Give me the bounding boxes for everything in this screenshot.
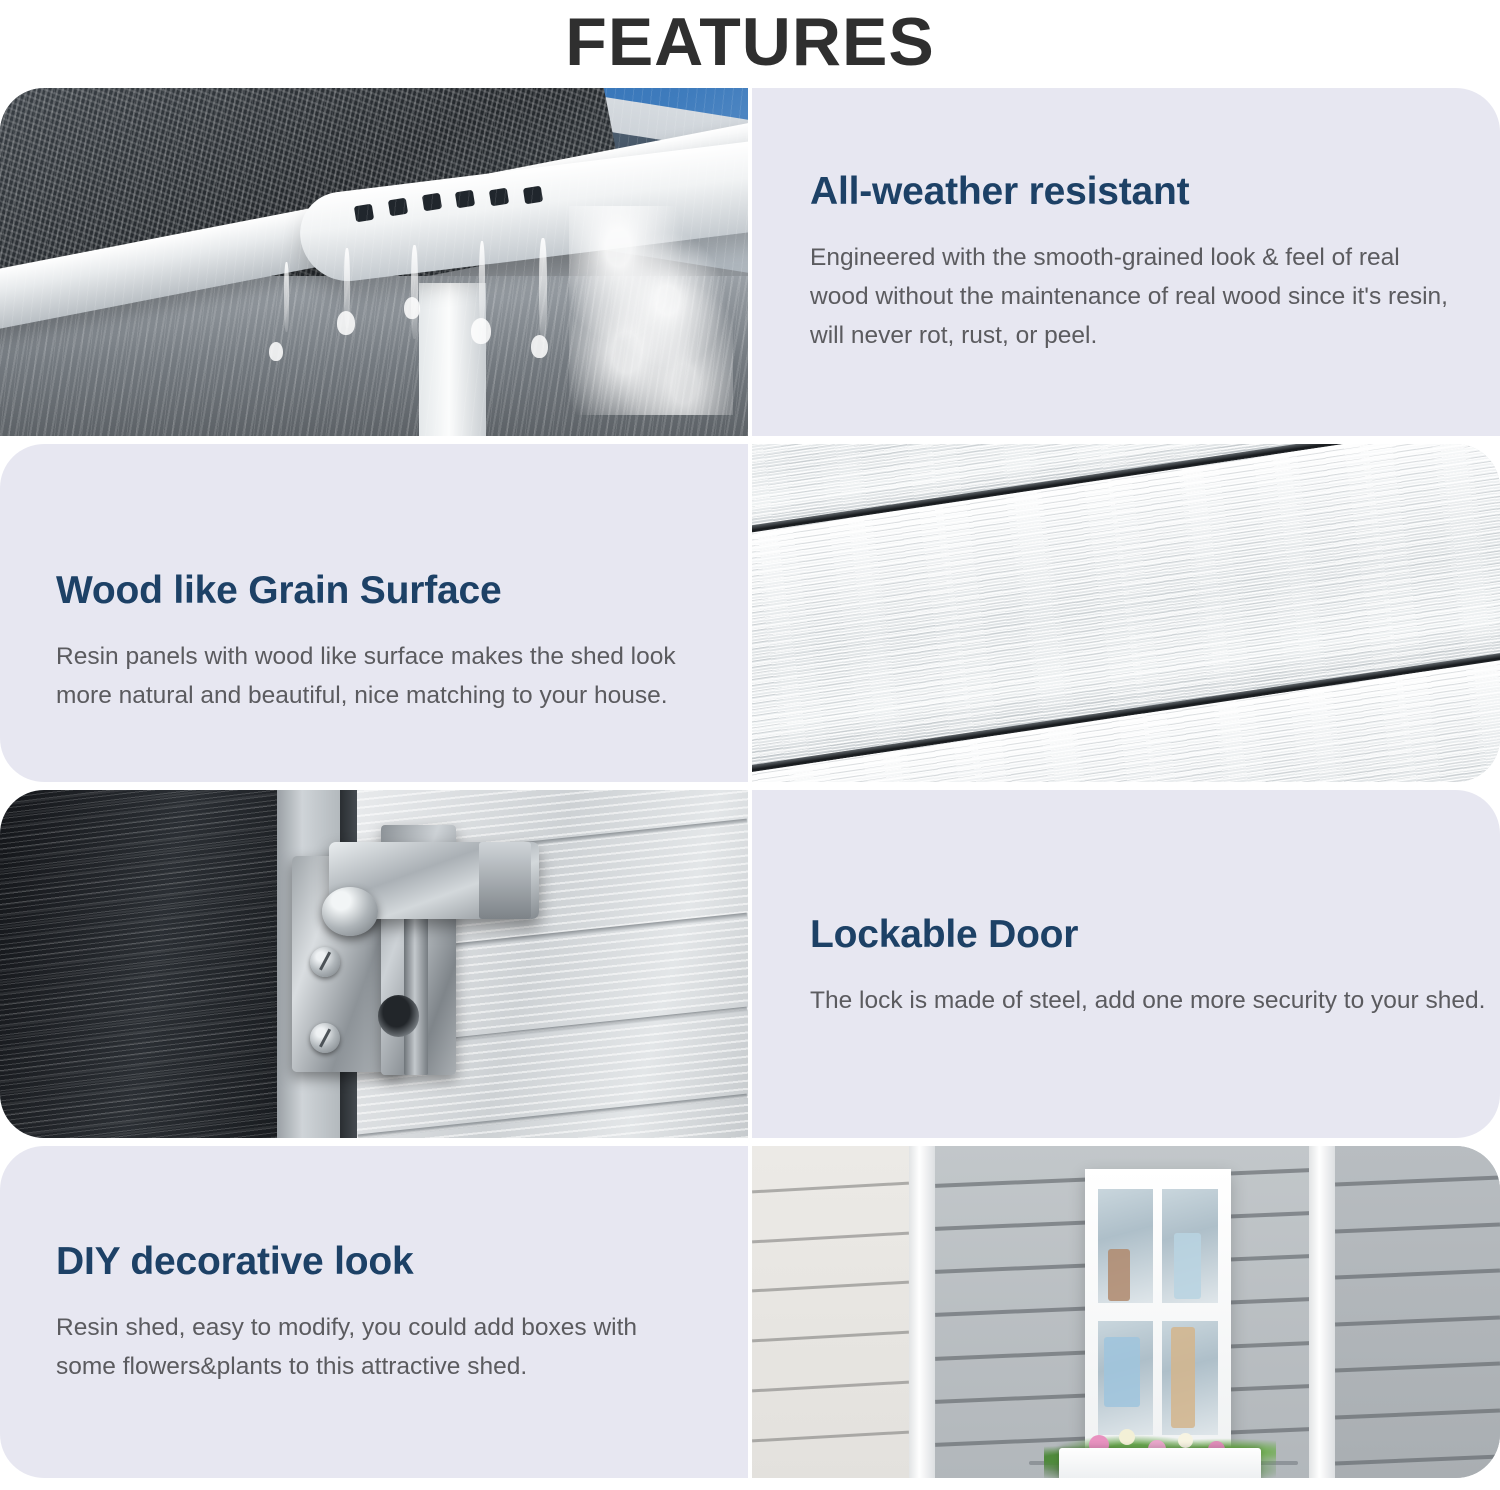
rain-mist-overlay: [0, 88, 748, 436]
feature-card-lockable-door: Lockable Door The lock is made of steel,…: [0, 790, 1500, 1138]
door-latch-photo: [0, 790, 748, 1138]
perpendicular-wall: [752, 1146, 909, 1478]
feature-image-all-weather-resistant: [0, 88, 748, 436]
feature-heading: All-weather resistant: [810, 170, 1189, 214]
rain-on-gutter-photo: [0, 88, 748, 436]
feature-card-all-weather-resistant: All-weather resistant Engineered with th…: [0, 88, 1500, 436]
white-flower-box: [1059, 1448, 1261, 1478]
feature-body: Resin shed, easy to modify, you could ad…: [56, 1308, 646, 1386]
feature-image-wood-like-grain-surface: [752, 444, 1500, 782]
feature-heading: Lockable Door: [810, 913, 1078, 957]
shed-window: [1085, 1169, 1231, 1455]
feature-text-all-weather-resistant: All-weather resistant Engineered with th…: [752, 88, 1500, 436]
feature-card-diy-decorative-look: DIY decorative look Resin shed, easy to …: [0, 1146, 1500, 1478]
window-pane: [1098, 1321, 1153, 1435]
feature-card-wood-like-grain-surface: Wood like Grain Surface Resin panels wit…: [0, 444, 1500, 782]
dark-door-panel: [0, 790, 277, 1138]
latch-hook: [479, 842, 531, 919]
wood-grain-panel-photo: [752, 444, 1500, 782]
feature-heading: DIY decorative look: [56, 1240, 413, 1284]
feature-text-lockable-door: Lockable Door The lock is made of steel,…: [752, 790, 1500, 1138]
feature-image-lockable-door: [0, 790, 748, 1138]
feature-heading: Wood like Grain Surface: [56, 569, 501, 613]
feature-body: Engineered with the smooth-grained look …: [810, 238, 1465, 355]
padlock-hole: [378, 995, 419, 1037]
latch-pivot-barrel: [322, 887, 378, 936]
far-siding-wall: [1335, 1146, 1500, 1478]
feature-body: The lock is made of steel, add one more …: [810, 981, 1500, 1020]
window-flowerbox-photo: [752, 1146, 1500, 1478]
window-pane: [1162, 1321, 1217, 1435]
window-pane: [1098, 1189, 1153, 1303]
window-pane: [1162, 1189, 1217, 1303]
feature-image-diy-decorative-look: [752, 1146, 1500, 1478]
page-title: FEATURES: [0, 0, 1500, 90]
corner-trim-right: [1309, 1146, 1334, 1478]
feature-text-wood-like-grain-surface: Wood like Grain Surface Resin panels wit…: [0, 444, 748, 782]
features-infographic: FEATURES: [0, 0, 1500, 1490]
feature-text-diy-decorative-look: DIY decorative look Resin shed, easy to …: [0, 1146, 748, 1478]
feature-body: Resin panels with wood like surface make…: [56, 637, 681, 715]
corner-trim-left: [909, 1146, 934, 1478]
